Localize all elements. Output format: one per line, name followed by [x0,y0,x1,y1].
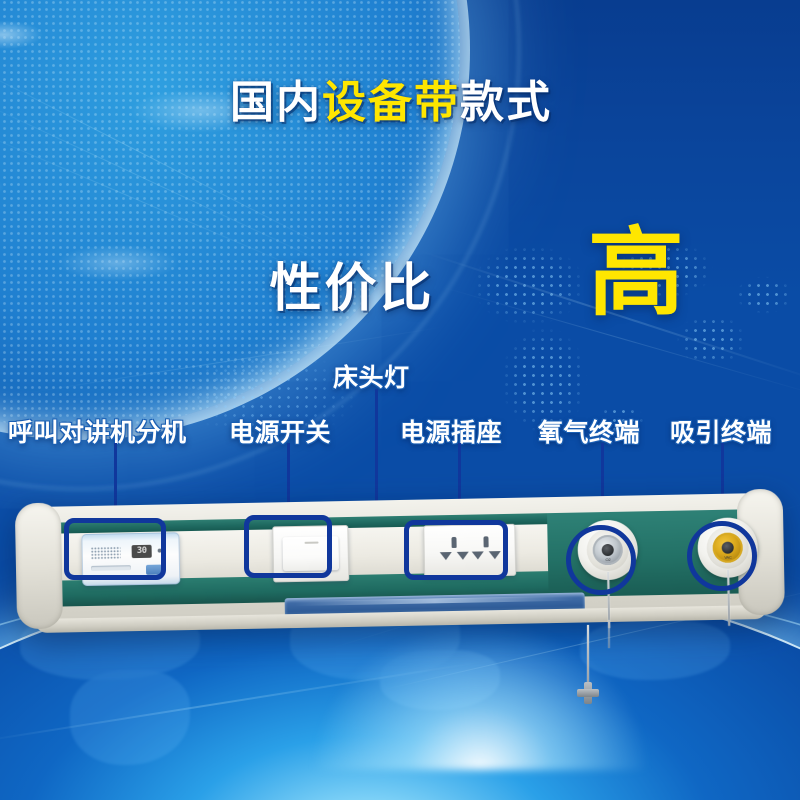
outlet-socket-right[interactable] [471,536,502,565]
intercom-slot [91,565,131,571]
product-banner-image: 国内设备带款式 性价比 高 呼叫对讲机分机 电源开关 床头灯 电源插座 氧气终端… [0,0,800,800]
oxygen-port-icon [602,544,614,556]
oxygen-terminal-mark: O2 [605,557,610,562]
callout-label-intercom: 呼叫对讲机分机 [8,413,187,449]
power-outlet[interactable] [423,524,516,578]
intercom-display: 30 [132,545,152,558]
panel-end-cap-left [15,503,63,630]
callout-label-bed-lamp: 床头灯 [333,358,410,394]
indicator-led-icon [158,549,162,553]
callout-label-power-outlet: 电源插座 [400,413,502,449]
intercom-handset[interactable]: 30 [81,532,180,586]
socket-pin-right-icon [457,552,469,560]
socket-pin-top-icon [483,536,488,547]
oxygen-cord-extension [608,620,610,648]
speaker-grille-icon [91,546,121,560]
suction-terminal-mark: VAC [724,555,731,560]
intercom-call-button[interactable] [146,565,162,575]
callout-label-oxygen-terminal: 氧气终端 [538,413,640,449]
socket-pin-top-icon [451,537,456,548]
suction-port-icon [722,542,734,554]
socket-pin-left-icon [472,551,484,559]
cord-weight-icon [577,682,599,704]
callout-label-power-switch: 电源开关 [229,413,331,449]
bed-head-unit-panel: 30 [23,493,777,639]
switch-notch [305,542,319,544]
outlet-socket-left[interactable] [439,537,470,566]
socket-pin-left-icon [440,552,452,560]
socket-pin-right-icon [489,551,501,559]
suction-cord-extension [587,625,589,687]
rail-highlight [295,596,575,606]
horizon-light-burst [310,620,650,770]
power-switch[interactable] [272,525,349,582]
switch-rocker[interactable] [282,536,339,571]
